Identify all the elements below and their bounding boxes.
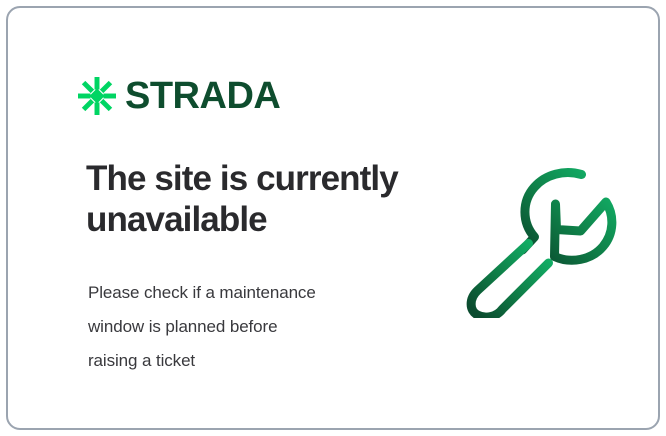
- brand-wordmark: STRADA: [125, 77, 280, 115]
- status-card: STRADA The site is currently unavailable…: [6, 6, 660, 430]
- description-line: Please check if a maintenance: [88, 276, 408, 310]
- page-description: Please check if a maintenance window is …: [88, 276, 408, 378]
- strada-asterisk-icon: [78, 77, 116, 115]
- error-page: STRADA The site is currently unavailable…: [0, 0, 666, 436]
- page-title: The site is currently unavailable: [86, 158, 426, 241]
- brand-logo: STRADA: [78, 72, 280, 120]
- description-line: window is planned before: [88, 310, 408, 344]
- wrench-icon: [460, 160, 620, 318]
- description-line: raising a ticket: [88, 344, 408, 378]
